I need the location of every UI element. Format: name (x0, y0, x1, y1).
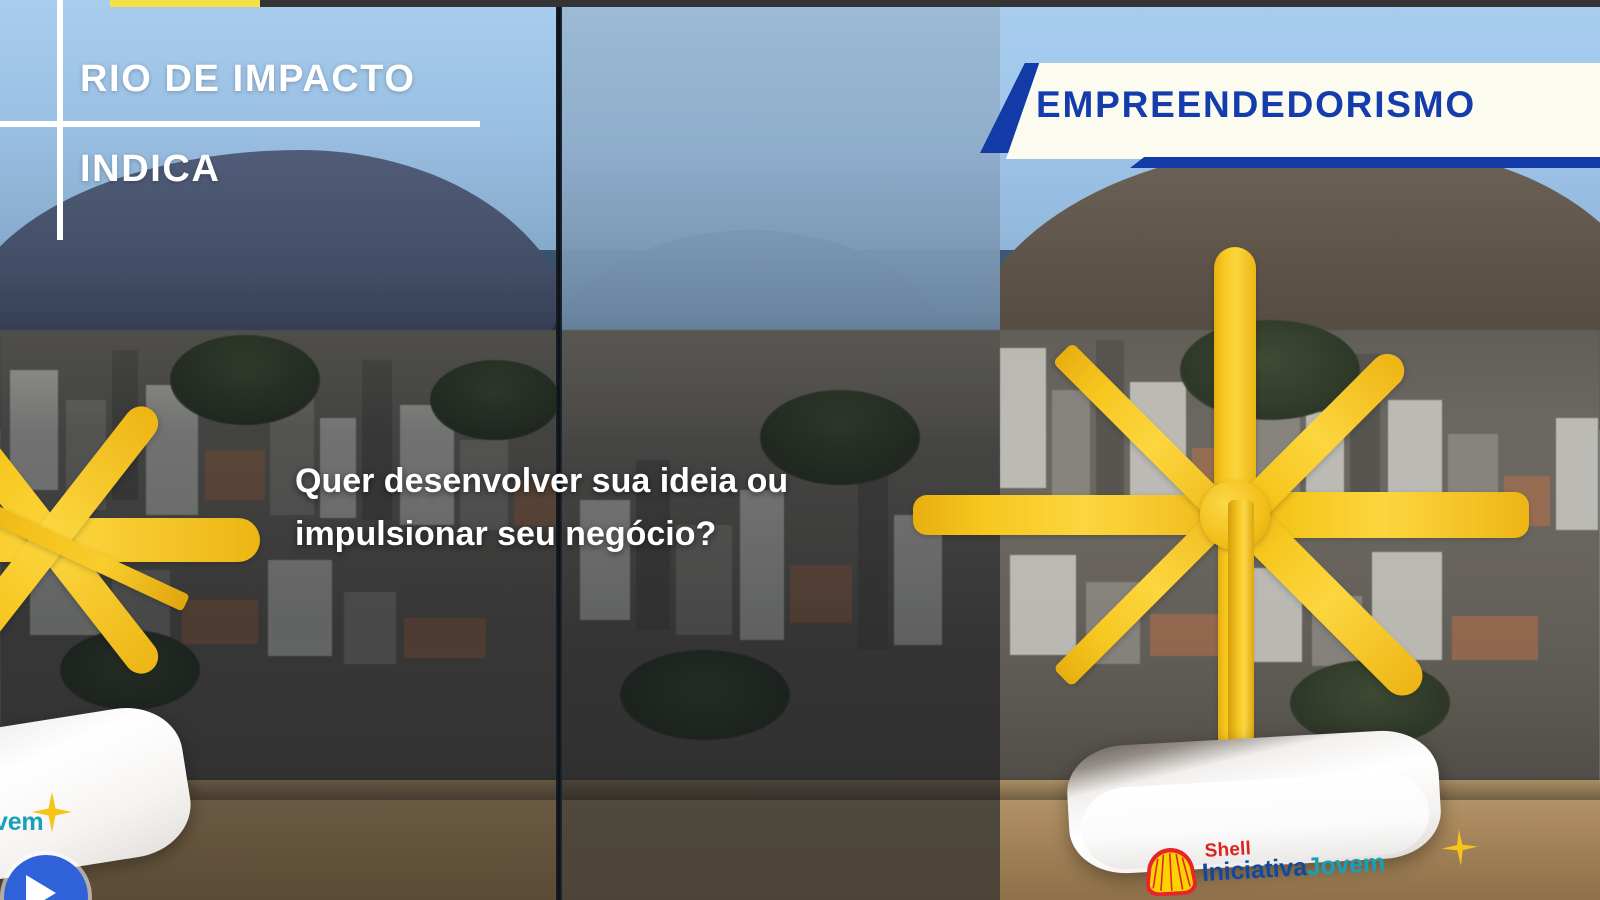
question-line-2: impulsionar seu negócio? (295, 508, 915, 561)
kicker-line-1: RIO DE IMPACTO (80, 58, 416, 101)
vertical-rule (57, 0, 63, 240)
trophy-base-main: Shell IniciativaJovem (1065, 728, 1444, 877)
shell-iniciativa-jovem-lockup: Shell IniciativaJovem (1142, 826, 1435, 900)
top-bar-dark (258, 0, 1600, 7)
top-bar-yellow-accent (110, 0, 260, 7)
jovem-word: Jovem (1306, 849, 1386, 881)
badge-label: EMPREENDEDORISMO (1036, 84, 1596, 126)
question-text: Quer desenvolver sua ideia ou impulsiona… (295, 455, 915, 560)
trophy-base-face: Shell IniciativaJovem (1079, 770, 1431, 871)
horizontal-rule (0, 121, 480, 127)
iniciativa-word: Iniciativa (1201, 853, 1307, 887)
question-line-1: Quer desenvolver sua ideia ou (295, 455, 915, 508)
kicker-line-2: INDICA (80, 148, 221, 191)
category-badge: EMPREENDEDORISMO (980, 60, 1600, 175)
trophy-star-left-partial (0, 370, 240, 710)
slide-canvas: RIO DE IMPACTO INDICA EMPREENDEDORISMO Q… (0, 0, 1600, 900)
window-mullion (556, 0, 562, 900)
shell-pecten-icon (1142, 845, 1199, 898)
badge-underline-bar (1130, 157, 1600, 168)
four-point-star-icon (1440, 828, 1480, 868)
trophy-left-brand-fragment: vem (0, 808, 43, 837)
